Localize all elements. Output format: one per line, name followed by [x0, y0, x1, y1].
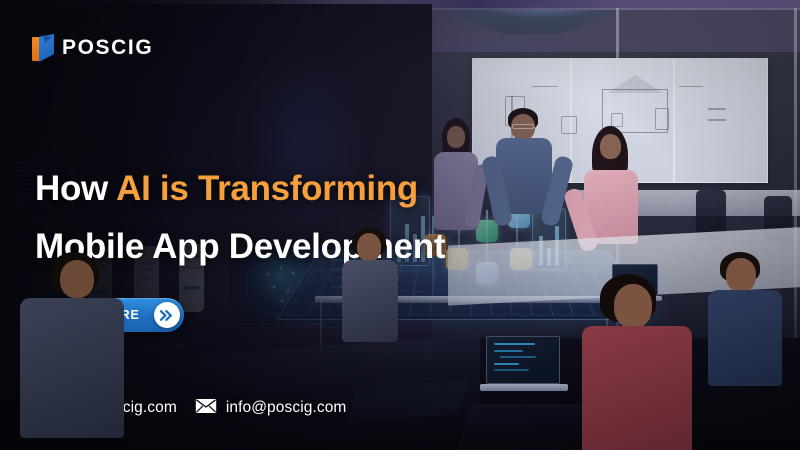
envelope-icon [195, 398, 217, 419]
brand-name: POSCIG [62, 36, 153, 60]
brand-logo[interactable]: POSCIG [32, 34, 153, 62]
poscig-logo-mark-icon [32, 34, 54, 62]
laptop-foreground [480, 336, 566, 398]
headline-line-1-accent: AI is Transforming [116, 169, 418, 208]
headline-line-1: How AI is Transforming [35, 160, 655, 218]
email-text: info@poscig.com [226, 399, 347, 417]
banner-root: POSCIG How AI is Transforming Mobile App… [0, 0, 800, 450]
email-item[interactable]: info@poscig.com [195, 398, 347, 419]
headline-line-1-plain: How [35, 169, 116, 208]
headline: How AI is Transforming Mobile App Develo… [35, 160, 655, 276]
double-chevron-right-icon [154, 302, 180, 328]
